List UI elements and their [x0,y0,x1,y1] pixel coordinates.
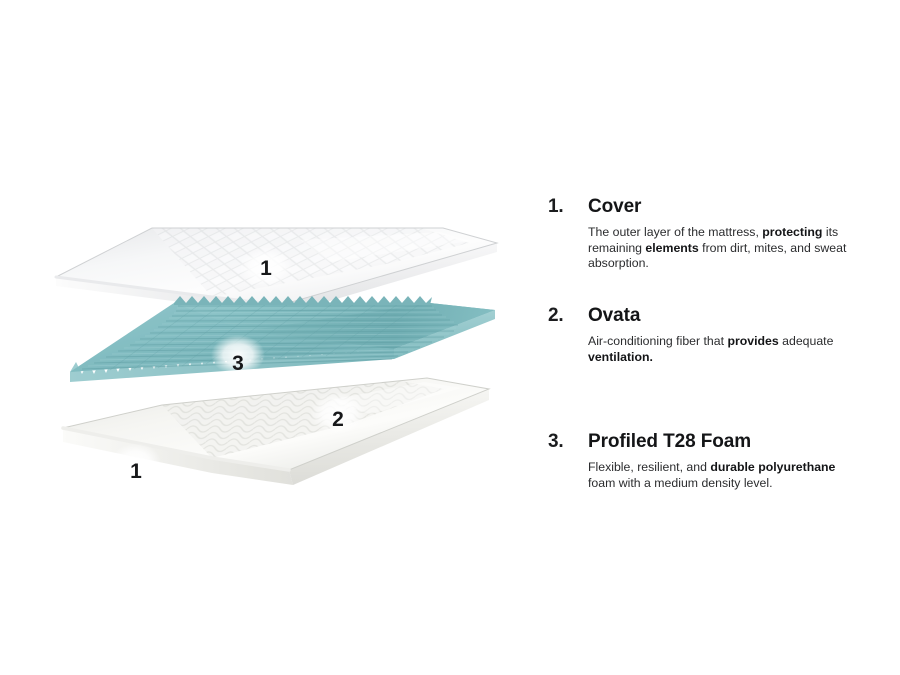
layer-descriptions-panel: 1. Cover The outer layer of the mattress… [548,0,900,675]
layer-ovata: 3 [70,296,495,382]
mattress-layers-illustration: 1 [0,0,540,675]
info-block-cover: 1. Cover The outer layer of the mattress… [548,196,878,272]
info-body-2: Ovata Air-conditioning fiber that provid… [588,305,878,365]
info-desc-ovata: Air-conditioning fiber that provides ade… [588,334,850,365]
callout-ovata-3: 3 [232,352,244,375]
info-body-3: Profiled T28 Foam Flexible, resilient, a… [588,431,878,491]
info-desc-t28-foam: Flexible, resilient, and durable polyure… [588,460,850,491]
info-title-cover: Cover [588,196,878,218]
diagram-canvas: 1 [0,0,900,675]
info-desc-cover: The outer layer of the mattress, protect… [588,225,850,272]
info-title-ovata: Ovata [588,305,878,327]
info-number-3: 3. [548,431,588,452]
callout-base-1: 1 [130,460,142,483]
info-number-1: 1. [548,196,588,217]
info-body-1: Cover The outer layer of the mattress, p… [588,196,878,272]
callout-base-2: 2 [332,408,344,431]
callout-cover-1: 1 [260,257,272,280]
info-title-t28-foam: Profiled T28 Foam [588,431,878,453]
info-number-2: 2. [548,305,588,326]
info-block-t28-foam: 3. Profiled T28 Foam Flexible, resilient… [548,431,878,491]
layer-t28-foam: 2 1 [0,378,489,485]
info-block-ovata: 2. Ovata Air-conditioning fiber that pro… [548,305,878,365]
